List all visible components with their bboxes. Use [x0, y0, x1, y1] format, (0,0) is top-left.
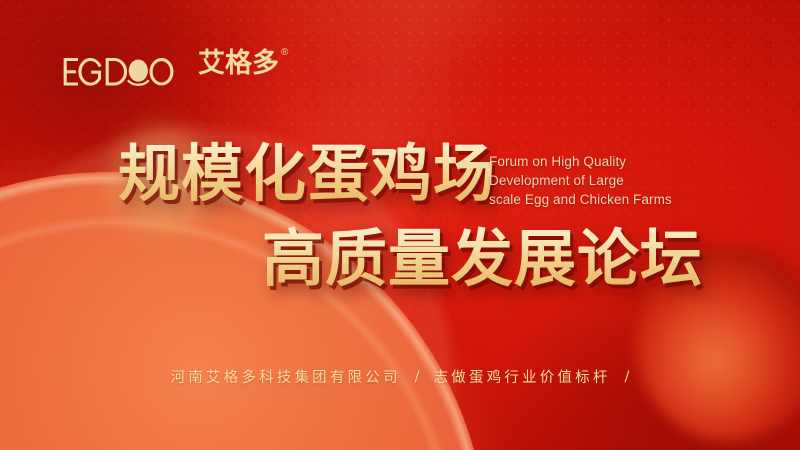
poster-banner: 艾格多 ® 规模化蛋鸡场 高质量发展论坛 Forum on High Quali… [0, 0, 800, 450]
brand-logo-chinese: 艾格多 [198, 50, 279, 77]
brand-logo[interactable]: 艾格多 ® [62, 50, 288, 94]
english-subtitle: Forum on High Quality Development of Lar… [489, 152, 672, 209]
english-subtitle-line-1: Forum on High Quality [489, 152, 672, 171]
footer-separator-1: / [415, 369, 420, 385]
footer-separator-2: / [625, 369, 630, 385]
english-subtitle-line-2: Development of Large [489, 171, 672, 190]
english-subtitle-line-3: scale Egg and Chicken Farms [489, 190, 672, 209]
poster-content: 艾格多 ® 规模化蛋鸡场 高质量发展论坛 Forum on High Quali… [0, 0, 800, 450]
egg-smile-icon [62, 50, 190, 94]
trademark-symbol: ® [281, 48, 288, 58]
footer-company-name: 河南艾格多科技集团有限公司 [171, 366, 401, 387]
footer-tagline: 河南艾格多科技集团有限公司 / 志做蛋鸡行业价值标杆 / [0, 366, 800, 387]
headline-line-1: 规模化蛋鸡场 [118, 141, 496, 207]
footer-slogan: 志做蛋鸡行业价值标杆 [434, 366, 611, 387]
headline-line-2: 高质量发展论坛 [262, 226, 703, 292]
